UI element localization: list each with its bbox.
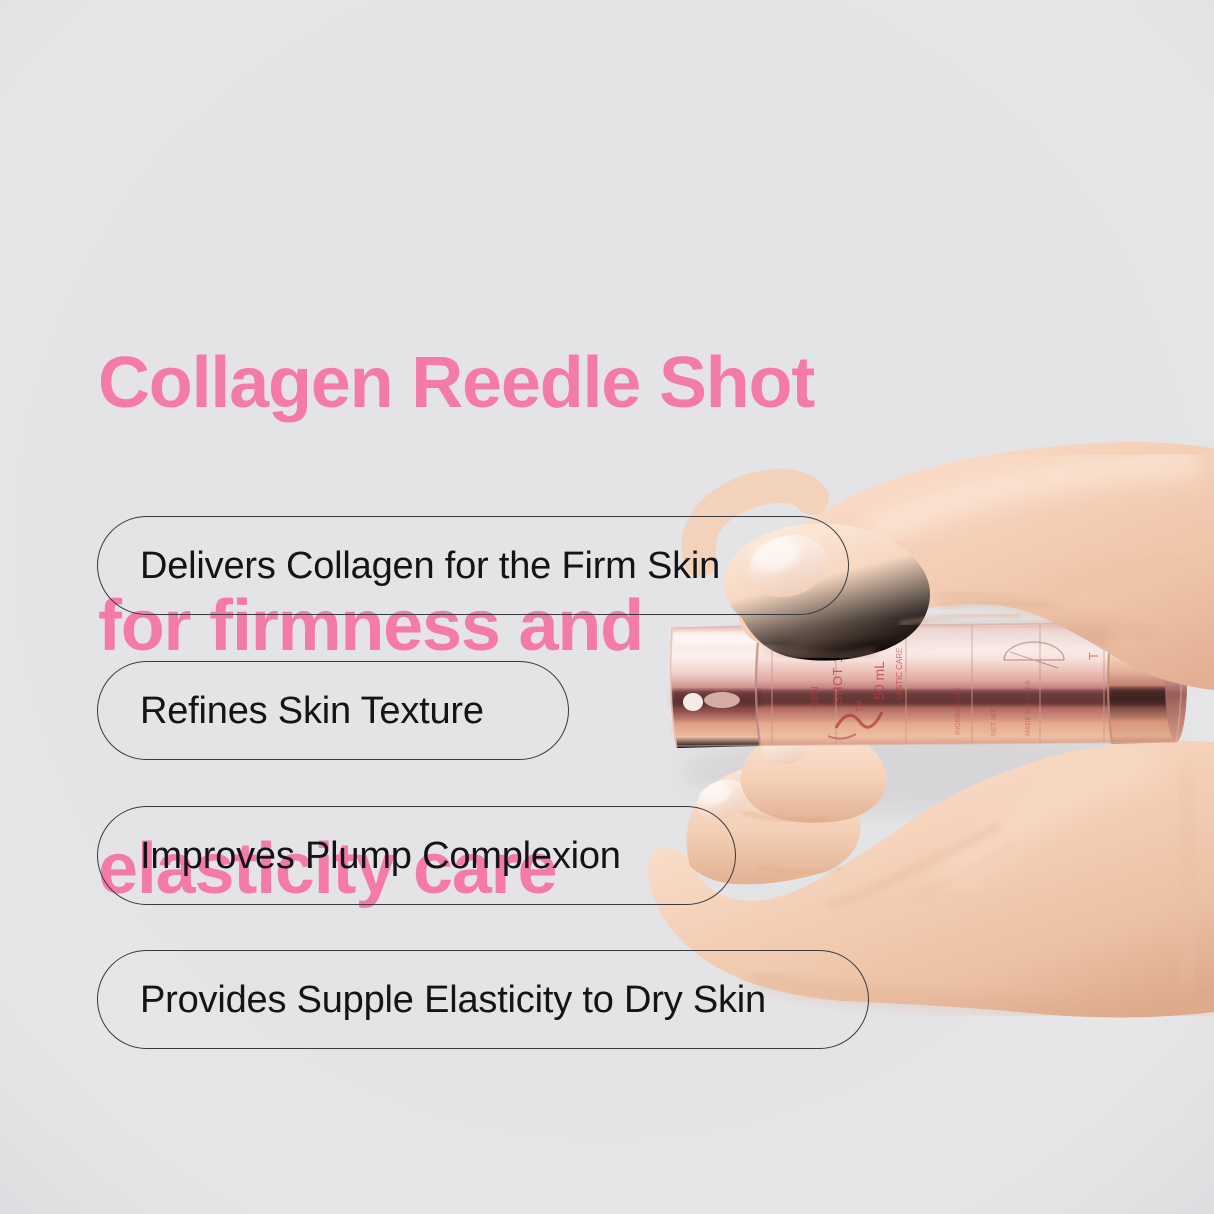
benefit-pill: Refines Skin Texture xyxy=(97,661,569,760)
benefit-label: Provides Supple Elasticity to Dry Skin xyxy=(140,981,766,1019)
page-title: Collagen Reedle Shot for firmness and el… xyxy=(98,181,814,1072)
benefit-pill: Provides Supple Elasticity to Dry Skin xyxy=(97,950,869,1049)
product-marketing-image: SHOT 100 GEN 50 mL LASTIC CARE TM T xyxy=(0,0,1214,1214)
benefit-label: Delivers Collagen for the Firm Skin xyxy=(140,547,720,585)
headline-line-1: Collagen Reedle Shot xyxy=(98,343,814,424)
svg-text:TM: TM xyxy=(855,700,864,712)
svg-text:SHOT 100: SHOT 100 xyxy=(830,640,845,705)
svg-text:MADE IN KOREA: MADE IN KOREA xyxy=(1025,680,1032,736)
benefit-label: Improves Plump Complexion xyxy=(140,837,621,875)
benefit-label: Refines Skin Texture xyxy=(140,692,484,730)
benefit-pill: Improves Plump Complexion xyxy=(97,806,736,905)
svg-text:INGREDIENTS: INGREDIENTS xyxy=(955,687,962,735)
svg-text:NET WT: NET WT xyxy=(991,709,998,736)
benefit-pill: Delivers Collagen for the Firm Skin xyxy=(97,516,849,615)
svg-text:LASTIC CARE: LASTIC CARE xyxy=(895,648,904,700)
svg-text:50 mL: 50 mL xyxy=(871,661,887,700)
svg-text:T: T xyxy=(1086,652,1101,660)
